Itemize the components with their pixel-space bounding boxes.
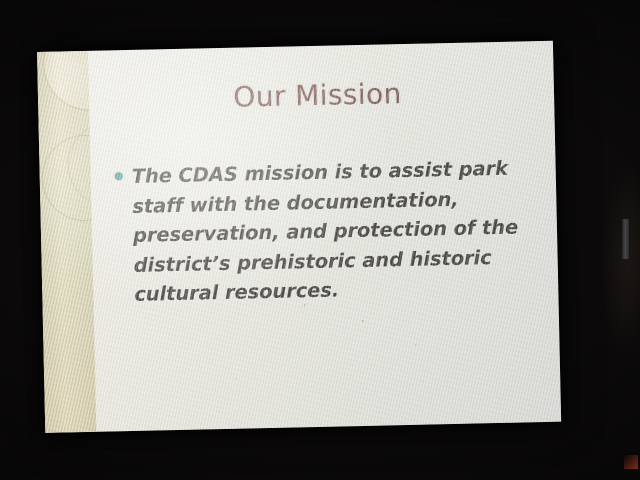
screen-speck <box>362 320 364 322</box>
slide-canvas: Our Mission The CDAS mission is to assis… <box>37 41 561 433</box>
screen-speck <box>414 344 416 346</box>
right-edge-sliver <box>622 219 629 259</box>
slide-accent-band <box>37 51 96 433</box>
slide-content-area: Our Mission The CDAS mission is to assis… <box>88 41 561 432</box>
slide-title: Our Mission <box>89 74 547 117</box>
screen-speck <box>304 304 306 306</box>
slide-photograph: Our Mission The CDAS mission is to assis… <box>0 0 640 480</box>
bullet-dot-icon <box>115 172 123 180</box>
right-edge-glow <box>600 160 640 360</box>
projected-slide: Our Mission The CDAS mission is to assis… <box>37 41 561 433</box>
bullet-list-item: The CDAS mission is to assist park staff… <box>114 153 528 309</box>
band-shading <box>37 51 96 433</box>
red-indicator-speck <box>624 455 638 469</box>
screen-speck <box>235 378 237 380</box>
bullet-text: The CDAS mission is to assist park staff… <box>131 153 528 309</box>
